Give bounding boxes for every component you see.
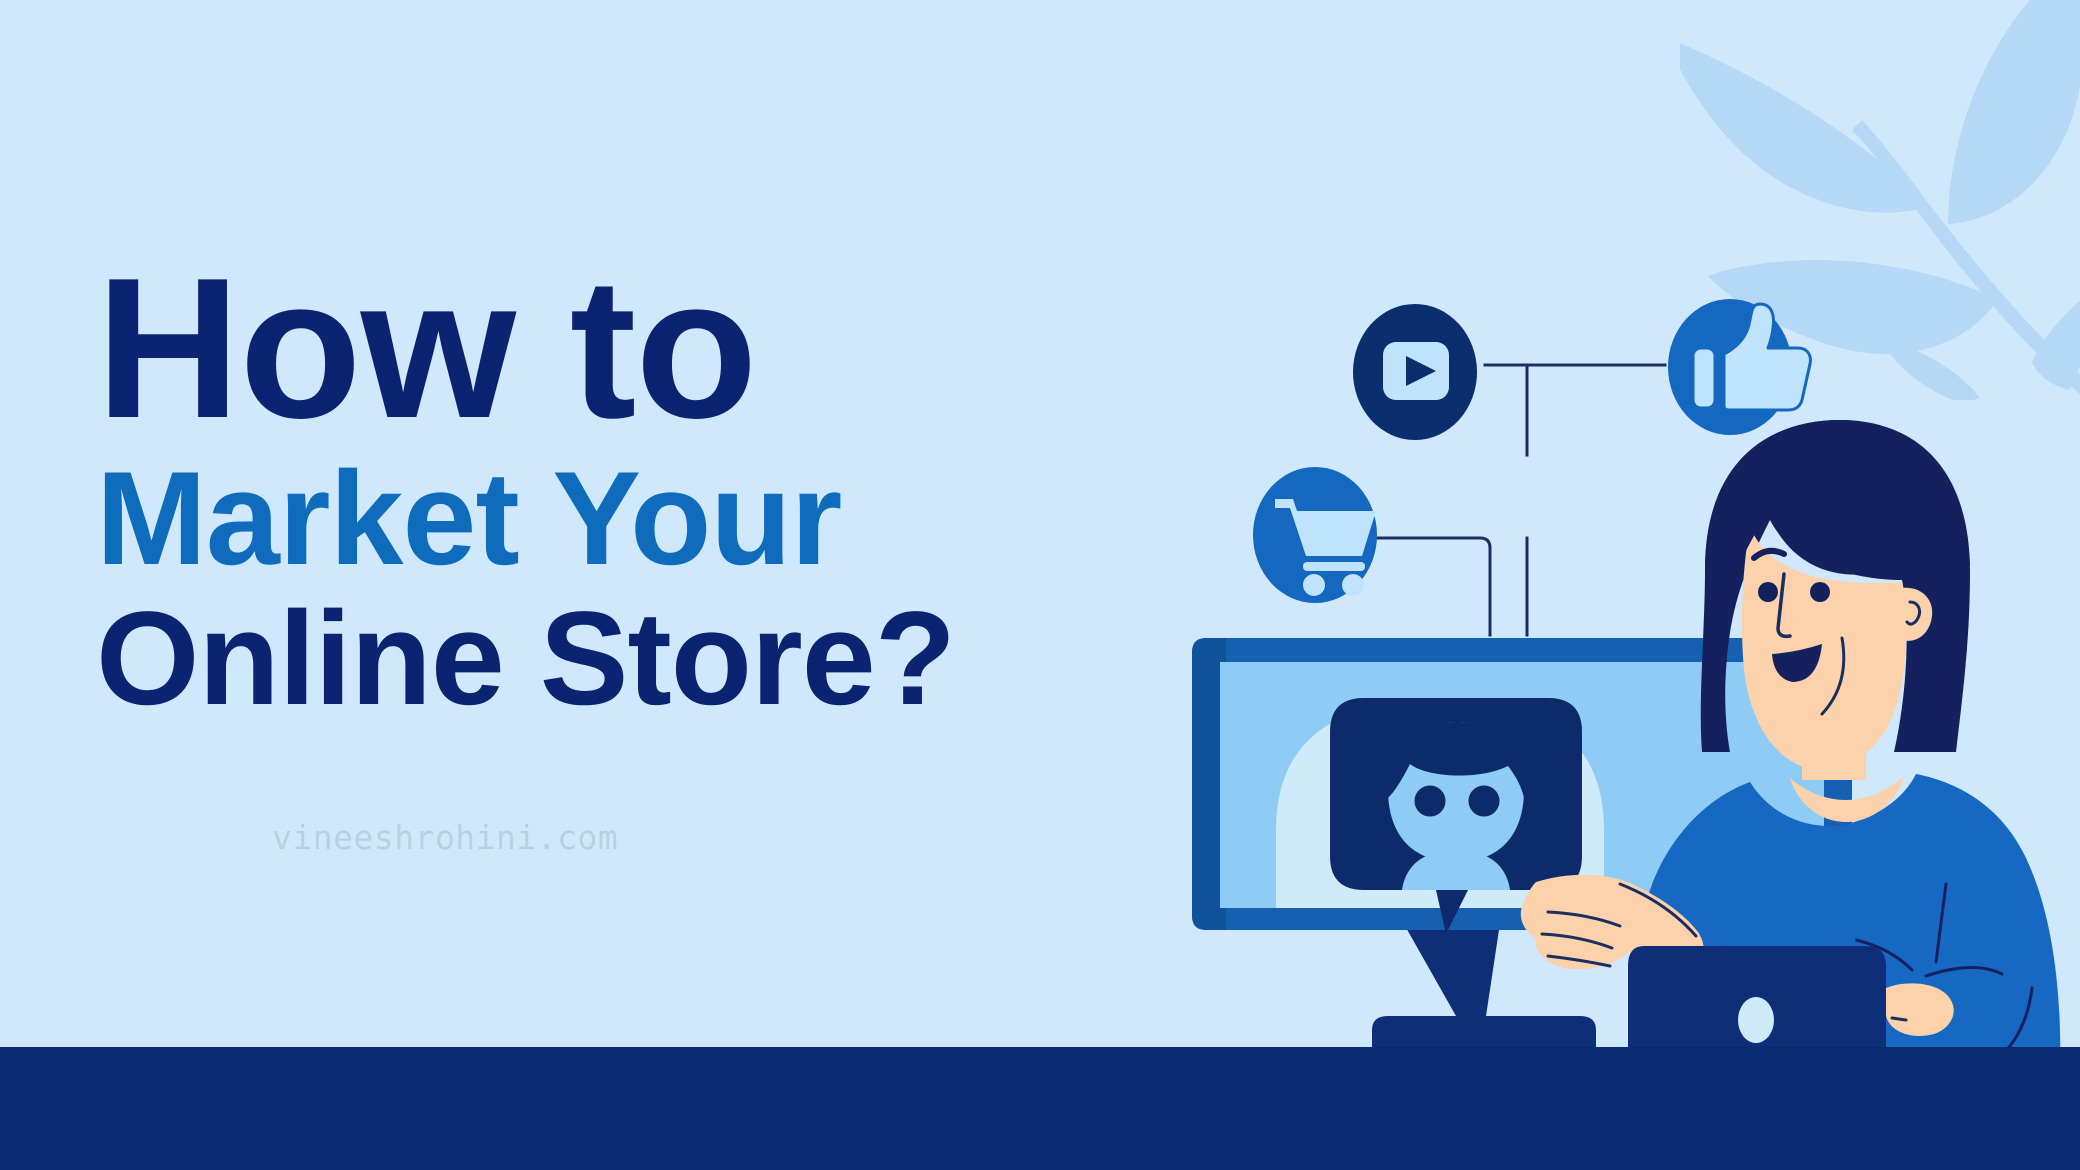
- headline-line-3: Online Store?: [96, 590, 1156, 728]
- headline-block: How to Market Your Online Store?: [96, 250, 1156, 729]
- headline-line-1: How to: [96, 250, 1156, 448]
- thumbnail-canvas: How to Market Your Online Store? vineesh…: [0, 0, 2080, 1170]
- bottom-bar: [0, 1047, 2080, 1170]
- youtube-play-icon: [1353, 304, 1477, 440]
- illustration: [1150, 270, 2080, 1070]
- shopping-cart-icon: [1253, 467, 1377, 603]
- site-watermark: vineeshrohini.com: [272, 818, 618, 857]
- headline-line-2: Market Your: [96, 450, 1156, 588]
- thumbs-up-icon: [1668, 299, 1810, 435]
